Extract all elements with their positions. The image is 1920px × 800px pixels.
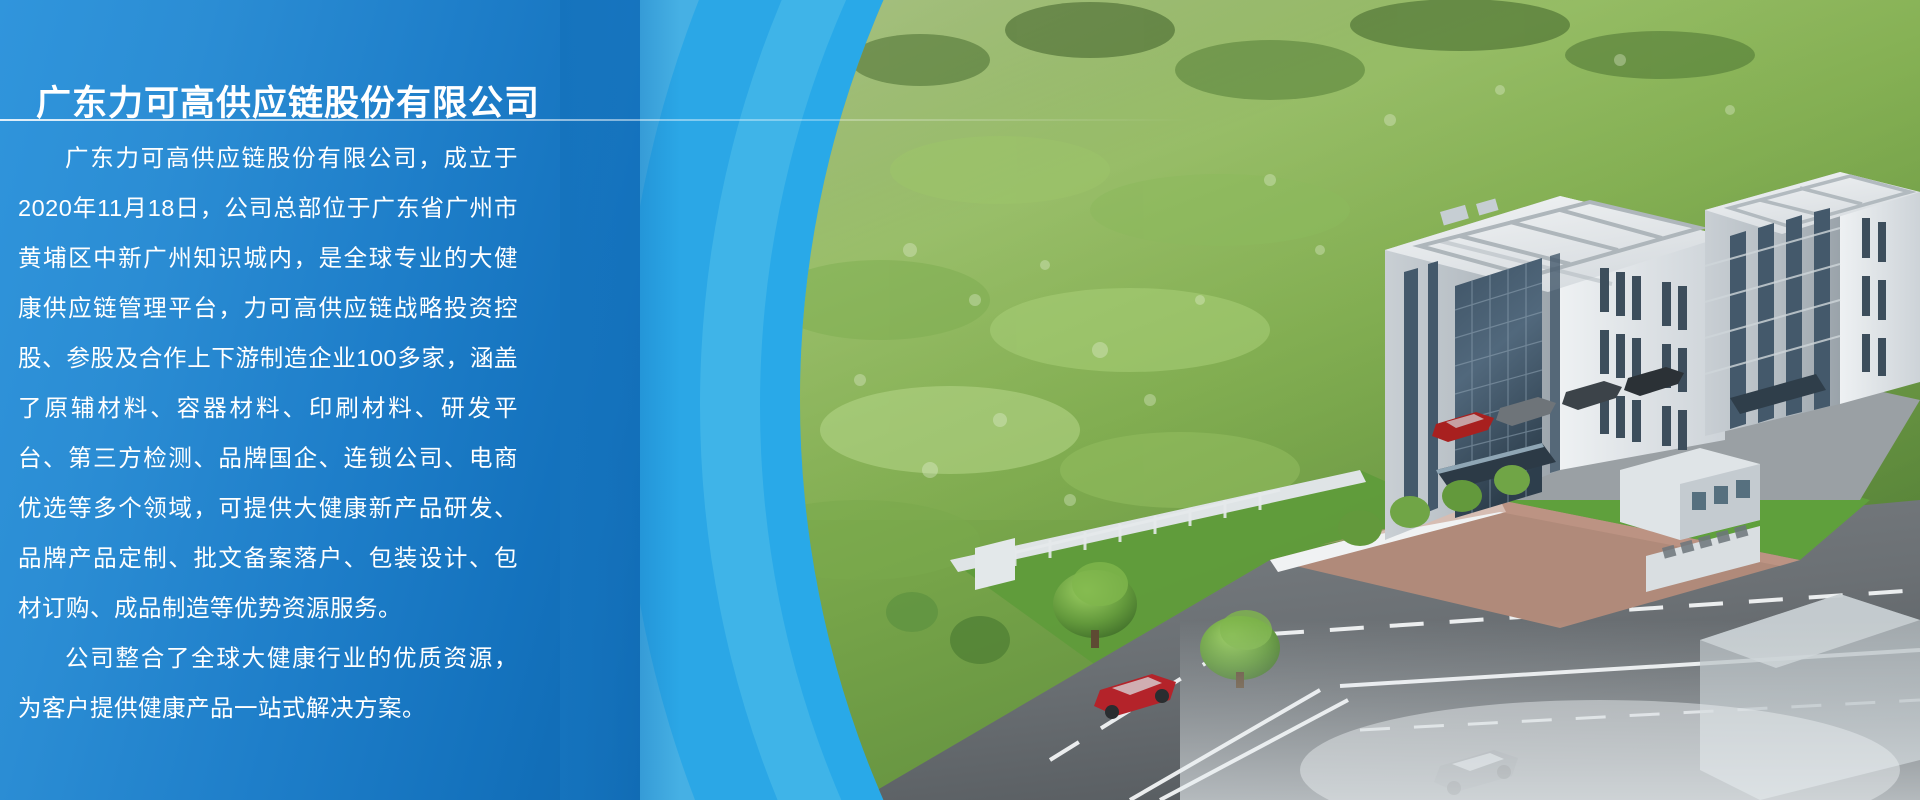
title-divider [0,119,1190,121]
text-column: 广东力可高供应链股份有限公司 广东力可高供应链股份有限公司，成立于2020年11… [0,0,600,800]
company-description: 广东力可高供应链股份有限公司，成立于2020年11月18日，公司总部位于广东省广… [18,133,518,733]
company-profile-banner: 广东力可高供应链股份有限公司 广东力可高供应链股份有限公司，成立于2020年11… [0,0,1920,800]
description-paragraph-1: 广东力可高供应链股份有限公司，成立于2020年11月18日，公司总部位于广东省广… [18,133,518,633]
description-paragraph-2: 公司整合了全球大健康行业的优质资源，为客户提供健康产品一站式解决方案。 [18,633,518,733]
